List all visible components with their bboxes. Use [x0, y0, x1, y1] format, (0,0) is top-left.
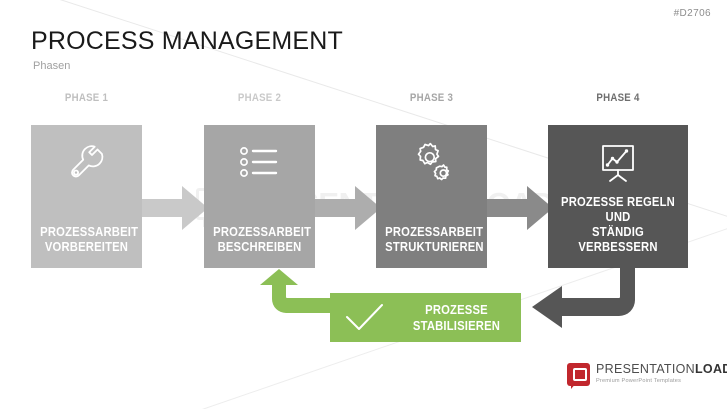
phase-label-2: PHASE 2	[211, 92, 309, 104]
arrow-phase1-to-phase2	[142, 186, 208, 235]
arrow-phase2-to-phase3	[315, 186, 381, 235]
phase-box-4-text: PROZESSE REGELN UND STÄNDIG VERBESSERN	[559, 195, 678, 255]
phase-label-1: PHASE 1	[38, 92, 136, 104]
phase-box-4[interactable]: PROZESSE REGELN UND STÄNDIG VERBESSERN	[548, 125, 688, 268]
stabilize-line1: PROZESSE	[406, 302, 508, 318]
document-id: #D2706	[674, 8, 711, 19]
phase-box-1-text: PROZESSARBEIT VORBEREITEN	[40, 225, 133, 255]
phase-box-2-text: PROZESSARBEIT BESCHREIBEN	[213, 225, 306, 255]
stabilize-box[interactable]: PROZESSE STABILISIEREN	[330, 293, 521, 342]
phase-box-1-line2: VORBEREITEN	[40, 240, 133, 255]
phase-box-2-line1: PROZESSARBEIT	[213, 225, 306, 240]
phase-label-4: PHASE 4	[556, 92, 679, 104]
gears-icon	[376, 142, 487, 186]
arrow-phase4-to-stabilize	[520, 262, 680, 347]
brand-name: PRESENTATIONLOAD®	[596, 363, 727, 376]
phase-box-4-line2: STÄNDIG VERBESSERN	[559, 225, 678, 255]
chart-board-icon	[548, 142, 688, 188]
stabilize-box-text: PROZESSE STABILISIEREN	[406, 302, 508, 334]
stabilize-line2: STABILISIEREN	[406, 318, 508, 334]
phase-box-2[interactable]: PROZESSARBEIT BESCHREIBEN	[204, 125, 315, 268]
phase-box-3[interactable]: PROZESSARBEIT STRUKTURIEREN	[376, 125, 487, 268]
phase-box-4-line1: PROZESSE REGELN UND	[559, 195, 678, 225]
slide-canvas: #D2706 PROCESS MANAGEMENT Phasen PRESENT…	[0, 0, 727, 409]
arrow-stabilize-to-phase2	[238, 265, 348, 346]
page-subtitle: Phasen	[33, 60, 70, 72]
wrench-icon	[31, 142, 142, 186]
brand-logo-text: PRESENTATIONLOAD® Premium PowerPoint Tem…	[596, 363, 727, 384]
phase-box-1[interactable]: PROZESSARBEIT VORBEREITEN	[31, 125, 142, 268]
phase-box-3-text: PROZESSARBEIT STRUKTURIEREN	[385, 225, 478, 255]
brand-name-bold: LOAD	[695, 362, 727, 376]
phase-box-3-line2: STRUKTURIEREN	[385, 240, 478, 255]
brand-tagline: Premium PowerPoint Templates	[596, 379, 727, 385]
bullet-list-icon	[204, 142, 315, 182]
arrow-phase3-to-phase4	[487, 186, 553, 235]
page-title: PROCESS MANAGEMENT	[31, 27, 343, 56]
phase-box-3-line1: PROZESSARBEIT	[385, 225, 478, 240]
brand-name-light: PRESENTATION	[596, 362, 695, 376]
brand-logo: PRESENTATIONLOAD® Premium PowerPoint Tem…	[567, 363, 727, 386]
speech-bubble-icon	[567, 363, 590, 386]
check-icon	[344, 302, 386, 339]
phase-box-1-line1: PROZESSARBEIT	[40, 225, 133, 240]
phase-box-2-line2: BESCHREIBEN	[213, 240, 306, 255]
phase-label-3: PHASE 3	[383, 92, 481, 104]
